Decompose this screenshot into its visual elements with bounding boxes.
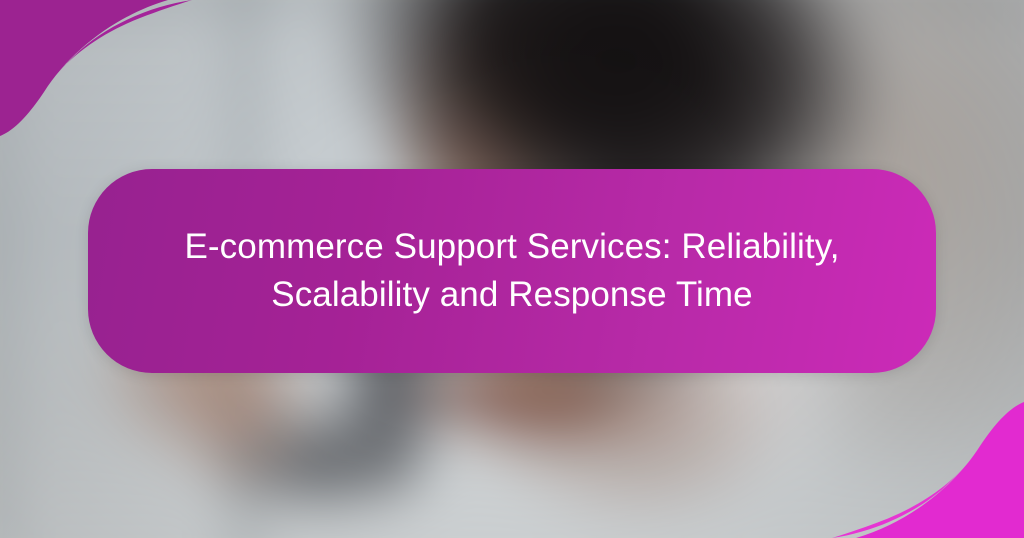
page-title-line-1: E-commerce Support Services: Reliability… [184,227,839,266]
page-title-line-2: Scalability and Response Time [271,275,752,314]
banner-canvas: E-commerce Support Services: Reliability… [0,0,1024,538]
title-banner: E-commerce Support Services: Reliability… [88,169,936,373]
page-title: E-commerce Support Services: Reliability… [184,223,839,318]
